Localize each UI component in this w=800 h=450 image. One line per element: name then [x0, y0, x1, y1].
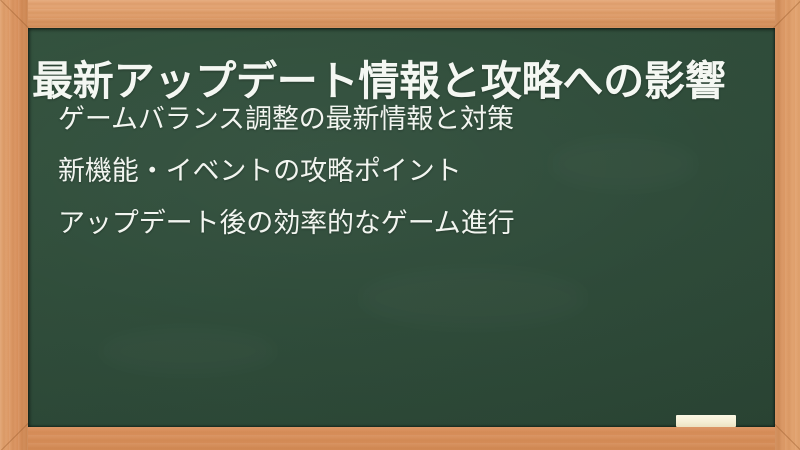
chalkboard-surface: 最新アップデート情報と攻略への影響 ゲームバランス調整の最新情報と対策 新機能・… [28, 28, 775, 427]
presentation-slide: 最新アップデート情報と攻略への影響 ゲームバランス調整の最新情報と対策 新機能・… [0, 0, 800, 450]
list-item: 新機能・イベントの攻略ポイント [58, 158, 758, 185]
slide-title: 最新アップデート情報と攻略への影響 [32, 57, 771, 105]
chalk-stick [676, 415, 736, 427]
frame-rail-right [775, 0, 800, 450]
list-item: アップデート後の効率的なゲーム進行 [58, 210, 758, 237]
list-item: ゲームバランス調整の最新情報と対策 [58, 106, 758, 133]
slide-bullet-list: ゲームバランス調整の最新情報と対策 新機能・イベントの攻略ポイント アップデート… [58, 106, 758, 262]
frame-rail-top [0, 0, 800, 28]
frame-rail-bottom [0, 427, 800, 450]
frame-rail-left [0, 0, 28, 450]
chalkboard-content: 最新アップデート情報と攻略への影響 ゲームバランス調整の最新情報と対策 新機能・… [28, 28, 775, 427]
